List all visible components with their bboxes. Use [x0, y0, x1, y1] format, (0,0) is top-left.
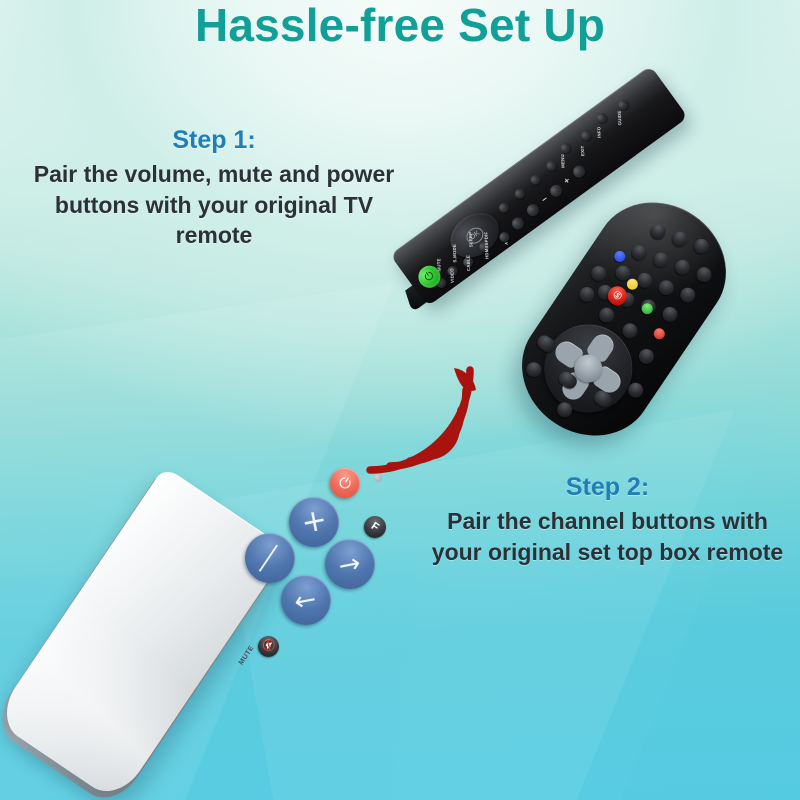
stb-button-grid-1[interactable] — [691, 236, 712, 257]
stb-button-side-b[interactable] — [576, 284, 597, 305]
step-1-label: Step 1: — [14, 126, 414, 155]
stb-blue-key[interactable] — [612, 249, 627, 264]
big-button-universal-remote[interactable]: ⏻ F ✕ VOL │ ↗ CH ↙ 🔇 MUTE — [40, 440, 410, 790]
step-1-block: Step 1: Pair the volume, mute and power … — [14, 126, 414, 251]
tv-remote-label-cable: CABLE — [466, 255, 472, 271]
stb-button-side-a[interactable] — [588, 263, 609, 284]
infographic-canvas: Hassle-free Set Up Step 1: Pair the volu… — [0, 0, 800, 800]
tv-remote-label-exit: EXIT — [580, 145, 585, 156]
stb-button-side-e[interactable] — [636, 346, 657, 367]
tv-remote-label-sleep: SLEEP — [468, 232, 474, 248]
tv-remote-label-smode: S.MODE — [452, 244, 458, 263]
universal-remote-power-button[interactable]: ⏻ — [324, 462, 366, 504]
stb-button-grid-9[interactable] — [656, 277, 677, 298]
stb-button-grid-6[interactable] — [650, 250, 671, 271]
universal-remote-led-indicator — [374, 474, 382, 482]
step-2-block: Step 2: Pair the channel buttons with yo… — [425, 473, 790, 567]
step-2-body: Pair the channel buttons with your origi… — [425, 506, 790, 567]
stb-button-side-c[interactable] — [596, 305, 617, 326]
set-top-box-remote-body: Ⓢ — [498, 177, 751, 460]
page-title: Hassle-free Set Up — [0, 0, 800, 52]
stb-button-grid-2[interactable] — [669, 229, 690, 250]
stb-button-grid-5[interactable] — [672, 257, 693, 278]
stb-button-replay[interactable] — [523, 359, 544, 380]
stb-button-grid-8[interactable] — [677, 285, 698, 306]
stb-button-side-d[interactable] — [619, 320, 640, 341]
tv-remote-label-guide: GUIDE — [617, 110, 623, 125]
stb-button-grid-4[interactable] — [694, 264, 715, 285]
stb-button-grid-12[interactable] — [660, 304, 681, 325]
stb-button-grid-7[interactable] — [629, 242, 650, 263]
original-set-top-box-remote[interactable]: Ⓢ — [520, 168, 800, 414]
universal-remote-mute-button[interactable]: 🔇 — [254, 632, 283, 661]
tv-remote-label-hdmi: HDMI/SPDIF — [484, 232, 490, 260]
tv-remote-label-menu: MENU — [560, 154, 565, 168]
tv-remote-label-info: INFO — [596, 127, 601, 138]
stb-red-key[interactable] — [652, 326, 667, 341]
tv-remote-label-video: VIDEO — [449, 268, 455, 283]
universal-remote-function-button[interactable]: F — [360, 512, 391, 543]
step-1-body: Pair the volume, mute and power buttons … — [14, 159, 414, 251]
stb-button-grid-3[interactable] — [648, 221, 669, 242]
